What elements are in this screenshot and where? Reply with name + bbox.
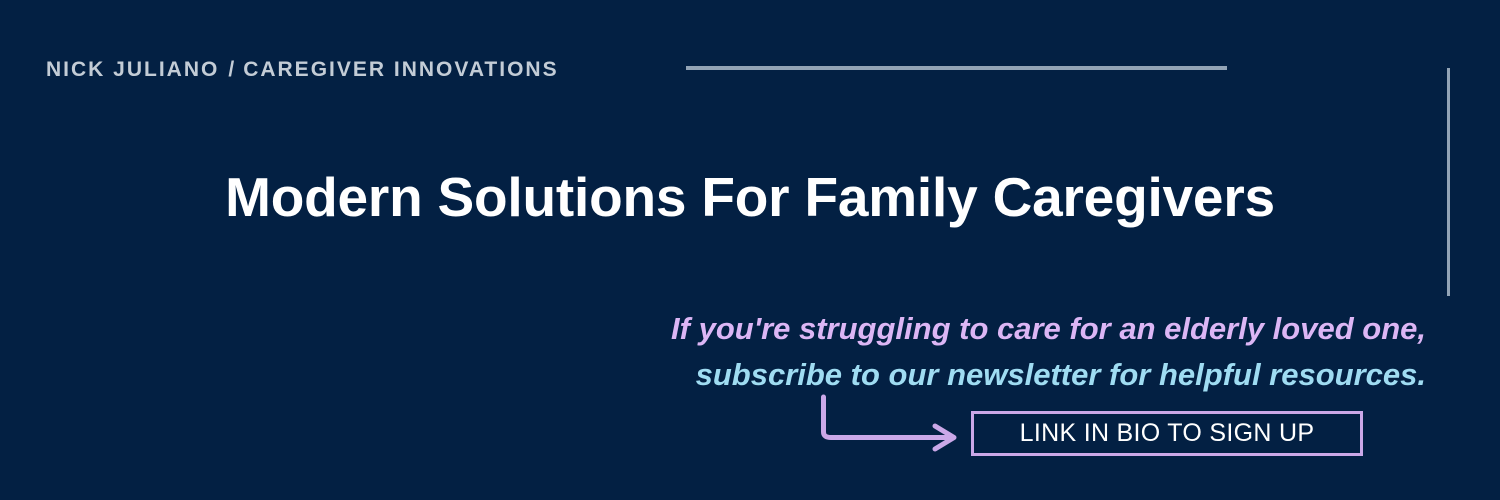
brand-name: NICK JULIANO	[46, 59, 219, 80]
social-banner: NICK JULIANO / CAREGIVER INNOVATIONS Mod…	[0, 0, 1500, 500]
elbow-arrow-icon	[806, 388, 976, 460]
brand-tagline: CAREGIVER INNOVATIONS	[243, 59, 558, 80]
brand-divider	[686, 66, 1227, 70]
subtitle-line-1: If you're struggling to care for an elde…	[671, 306, 1426, 352]
subtitle: If you're struggling to care for an elde…	[671, 306, 1426, 398]
link-in-bio-button-label: LINK IN BIO TO SIGN UP	[1020, 421, 1315, 446]
page-title: Modern Solutions For Family Caregivers	[0, 166, 1500, 229]
subtitle-line-2: subscribe to our newsletter for helpful …	[671, 352, 1426, 398]
link-in-bio-button[interactable]: LINK IN BIO TO SIGN UP	[971, 411, 1363, 456]
brand-separator: /	[219, 59, 243, 80]
